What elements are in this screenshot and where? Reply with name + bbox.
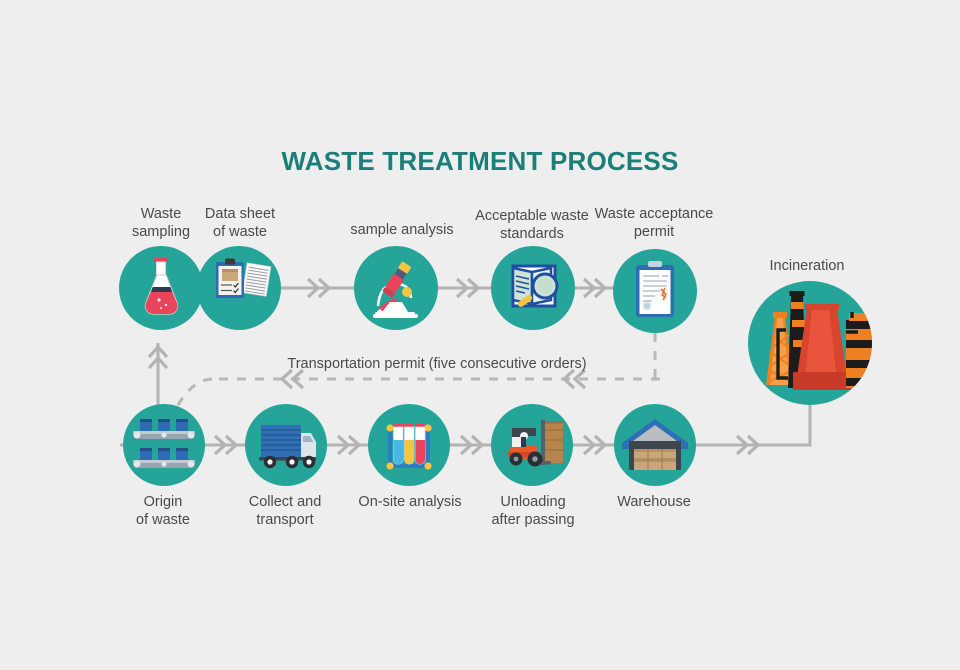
node-unloading-after-passing[interactable] [491, 404, 573, 486]
diagram-canvas: WASTE TREATMENT PROCESS Waste sampling D… [0, 0, 960, 670]
label-data-sheet-of-waste: Data sheet of waste [180, 205, 300, 241]
conveyor-upper [133, 419, 195, 439]
label-sample-analysis: sample analysis [332, 221, 472, 239]
permit-certificate-icon [636, 261, 674, 317]
node-on-site-analysis[interactable] [368, 404, 450, 486]
storage-tanks [846, 313, 872, 388]
label-transportation-permit: Transportation permit (five consecutive … [257, 355, 617, 373]
node-collect-and-transport[interactable] [245, 404, 327, 486]
node-origin-of-waste[interactable] [123, 404, 205, 486]
node-circle [123, 404, 205, 486]
book-magnifier-icon [513, 266, 557, 308]
label-incineration: Incineration [737, 257, 877, 275]
page-title: WASTE TREATMENT PROCESS [0, 146, 960, 177]
node-waste-acceptance-permit[interactable] [613, 249, 697, 333]
label-origin-of-waste: Origin of waste [103, 493, 223, 529]
conveyor-lower [133, 448, 195, 468]
node-waste-sampling[interactable] [119, 246, 203, 330]
process-flow-graphics [0, 0, 960, 670]
node-acceptable-waste-standards[interactable] [491, 246, 575, 330]
label-on-site-analysis: On-site analysis [340, 493, 480, 511]
label-warehouse: Warehouse [584, 493, 724, 511]
label-unloading-after-passing: Unloading after passing [463, 493, 603, 529]
label-waste-acceptance-permit: Waste acceptance permit [584, 205, 724, 241]
node-incineration[interactable] [748, 281, 872, 405]
label-acceptable-waste-standards: Acceptable waste standards [462, 207, 602, 243]
label-collect-and-transport: Collect and transport [225, 493, 345, 529]
node-sample-analysis[interactable] [354, 246, 438, 330]
node-warehouse[interactable] [614, 404, 696, 486]
node-data-sheet-of-waste[interactable] [197, 246, 281, 330]
